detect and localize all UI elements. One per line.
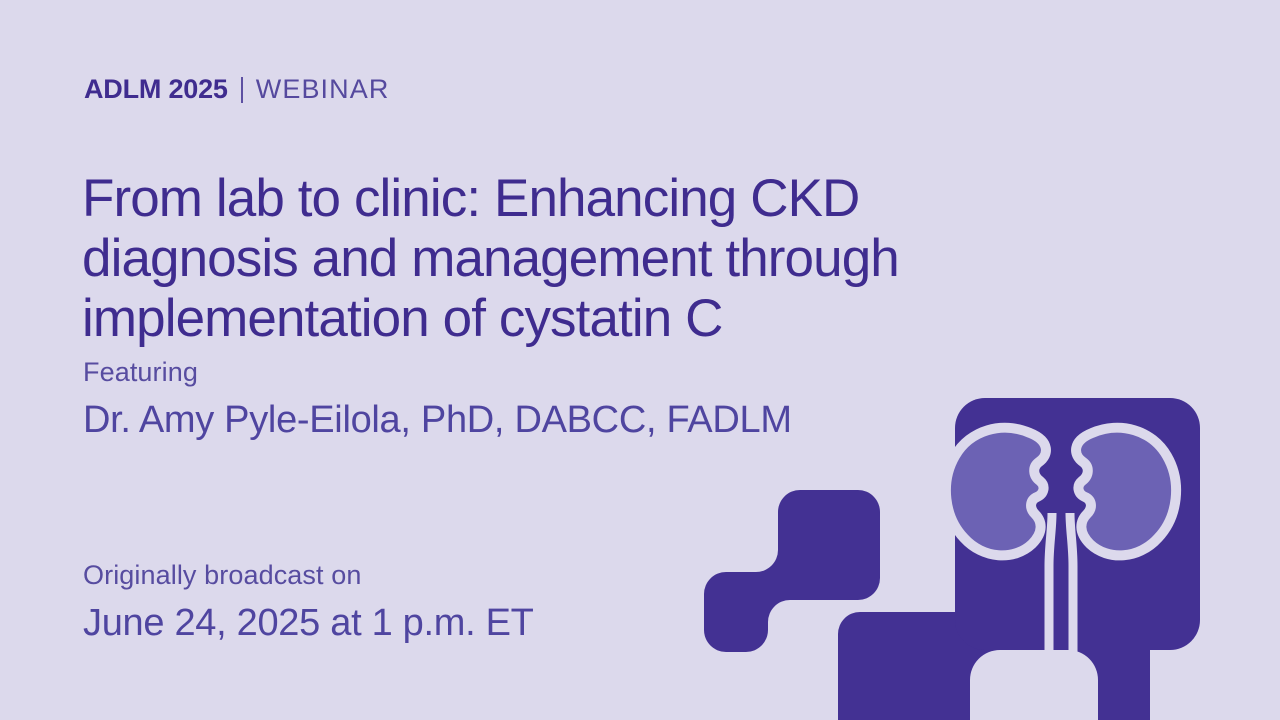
broadcast-block: Originally broadcast on June 24, 2025 at… bbox=[83, 558, 534, 648]
eyebrow-brand: ADLM 2025 bbox=[84, 76, 228, 103]
page-title: From lab to clinic: Enhancing CKD diagno… bbox=[82, 169, 1217, 349]
featuring-block: Featuring Dr. Amy Pyle-Eilola, PhD, DABC… bbox=[83, 355, 792, 445]
eyebrow: ADLM 2025 WEBINAR bbox=[84, 76, 389, 103]
webinar-promo-slide: ADLM 2025 WEBINAR From lab to clinic: En… bbox=[0, 0, 1280, 720]
broadcast-datetime: June 24, 2025 at 1 p.m. ET bbox=[83, 598, 534, 648]
eyebrow-separator-icon bbox=[241, 77, 243, 103]
speaker-name: Dr. Amy Pyle-Eilola, PhD, DABCC, FADLM bbox=[83, 395, 792, 445]
title-line-3: implementation of cystatin C bbox=[82, 289, 1217, 349]
featuring-label: Featuring bbox=[83, 355, 792, 389]
title-line-1: From lab to clinic: Enhancing CKD bbox=[82, 169, 1217, 229]
title-line-2: diagnosis and management through bbox=[82, 229, 1217, 289]
broadcast-label: Originally broadcast on bbox=[83, 558, 534, 592]
slide-content: ADLM 2025 WEBINAR From lab to clinic: En… bbox=[0, 0, 1280, 720]
eyebrow-type: WEBINAR bbox=[256, 76, 390, 103]
